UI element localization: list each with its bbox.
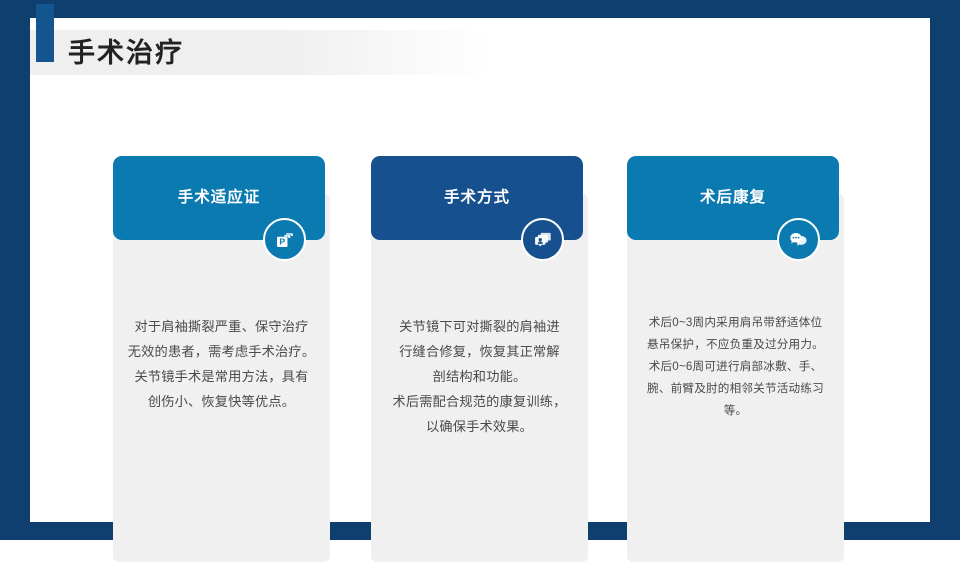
card-body-line: 对于肩袖撕裂严重、保守治疗 xyxy=(126,314,317,339)
card-body-text: 关节镜下可对撕裂的肩袖进 行缝合修复，恢复其正常解 剖结构和功能。 术后需配合规… xyxy=(384,314,575,439)
card-body-line: 悬吊保护，不应负重及过分用力。 xyxy=(637,334,834,356)
contact-card-icon xyxy=(521,218,564,261)
card-heading: 手术方式 xyxy=(444,187,510,209)
card-body-line: 关节镜手术是常用方法，具有 xyxy=(126,364,317,389)
card-body-line: 创伤小、恢复快等优点。 xyxy=(126,389,317,414)
svg-text:P: P xyxy=(279,236,285,246)
card-body-line: 无效的患者，需考虑手术治疗。 xyxy=(126,339,317,364)
card-body-line: 等。 xyxy=(637,400,834,422)
card-body-text: 术后0~3周内采用肩吊带舒适体位 悬吊保护，不应负重及过分用力。 术后0~6周可… xyxy=(637,312,834,422)
card-body-text: 对于肩袖撕裂严重、保守治疗 无效的患者，需考虑手术治疗。 关节镜手术是常用方法，… xyxy=(126,314,317,414)
card-body-line: 术后0~6周可进行肩部冰敷、手、 xyxy=(637,356,834,378)
card-body-line: 术后0~3周内采用肩吊带舒适体位 xyxy=(637,312,834,334)
slide-canvas: 手术治疗 对于肩袖撕裂严重、保守治疗 无效的患者，需考虑手术治疗。 关节镜手术是… xyxy=(0,0,960,540)
card-body-line: 腕、前臂及肘的相邻关节活动练习 xyxy=(637,378,834,400)
card-heading: 术后康复 xyxy=(700,187,766,209)
presentation-file-icon: P xyxy=(263,218,306,261)
card-body-line: 以确保手术效果。 xyxy=(384,414,575,439)
card-heading: 手术适应证 xyxy=(178,187,261,209)
chat-bubbles-icon xyxy=(777,218,820,261)
card-body-line: 术后需配合规范的康复训练， xyxy=(384,389,575,414)
card-body-line: 行缝合修复，恢复其正常解 xyxy=(384,339,575,364)
card-body-line: 关节镜下可对撕裂的肩袖进 xyxy=(384,314,575,339)
card-group: 对于肩袖撕裂严重、保守治疗 无效的患者，需考虑手术治疗。 关节镜手术是常用方法，… xyxy=(0,0,960,540)
card-body-line: 剖结构和功能。 xyxy=(384,364,575,389)
